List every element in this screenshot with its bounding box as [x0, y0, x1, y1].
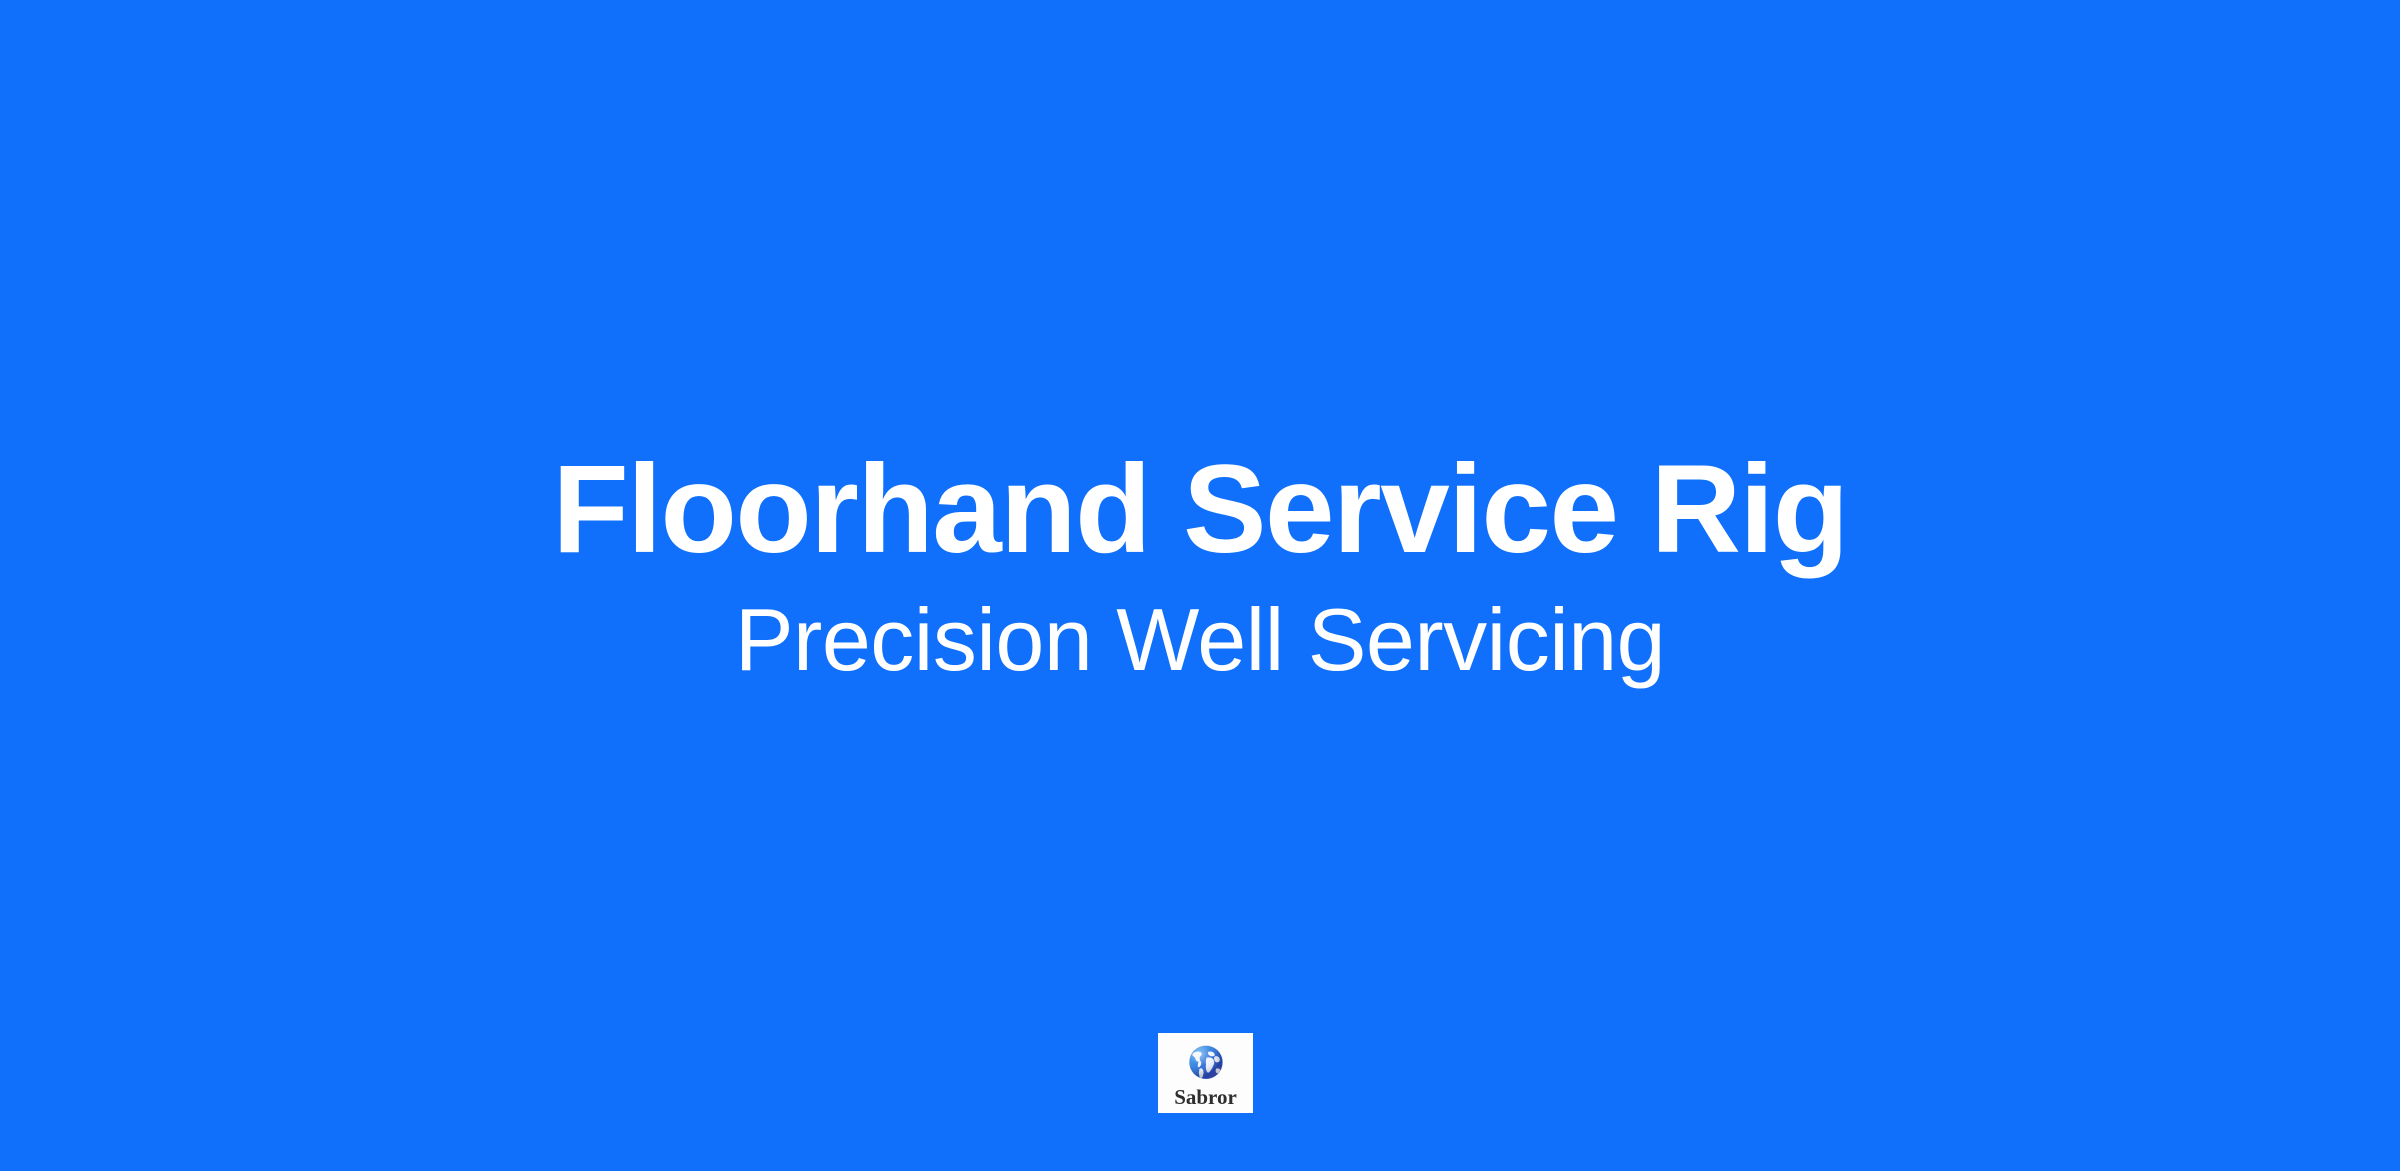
globe-icon	[1184, 1041, 1228, 1085]
page-subtitle: Precision Well Servicing	[735, 591, 1665, 690]
title-slide: Floorhand Service Rig Precision Well Ser…	[0, 0, 2400, 1171]
page-title: Floorhand Service Rig	[552, 442, 1847, 577]
hero-copy-block: Floorhand Service Rig Precision Well Ser…	[0, 0, 2400, 1171]
brand-wordmark: Sabror	[1174, 1087, 1237, 1108]
brand-logo-card: Sabror	[1158, 1033, 1253, 1113]
